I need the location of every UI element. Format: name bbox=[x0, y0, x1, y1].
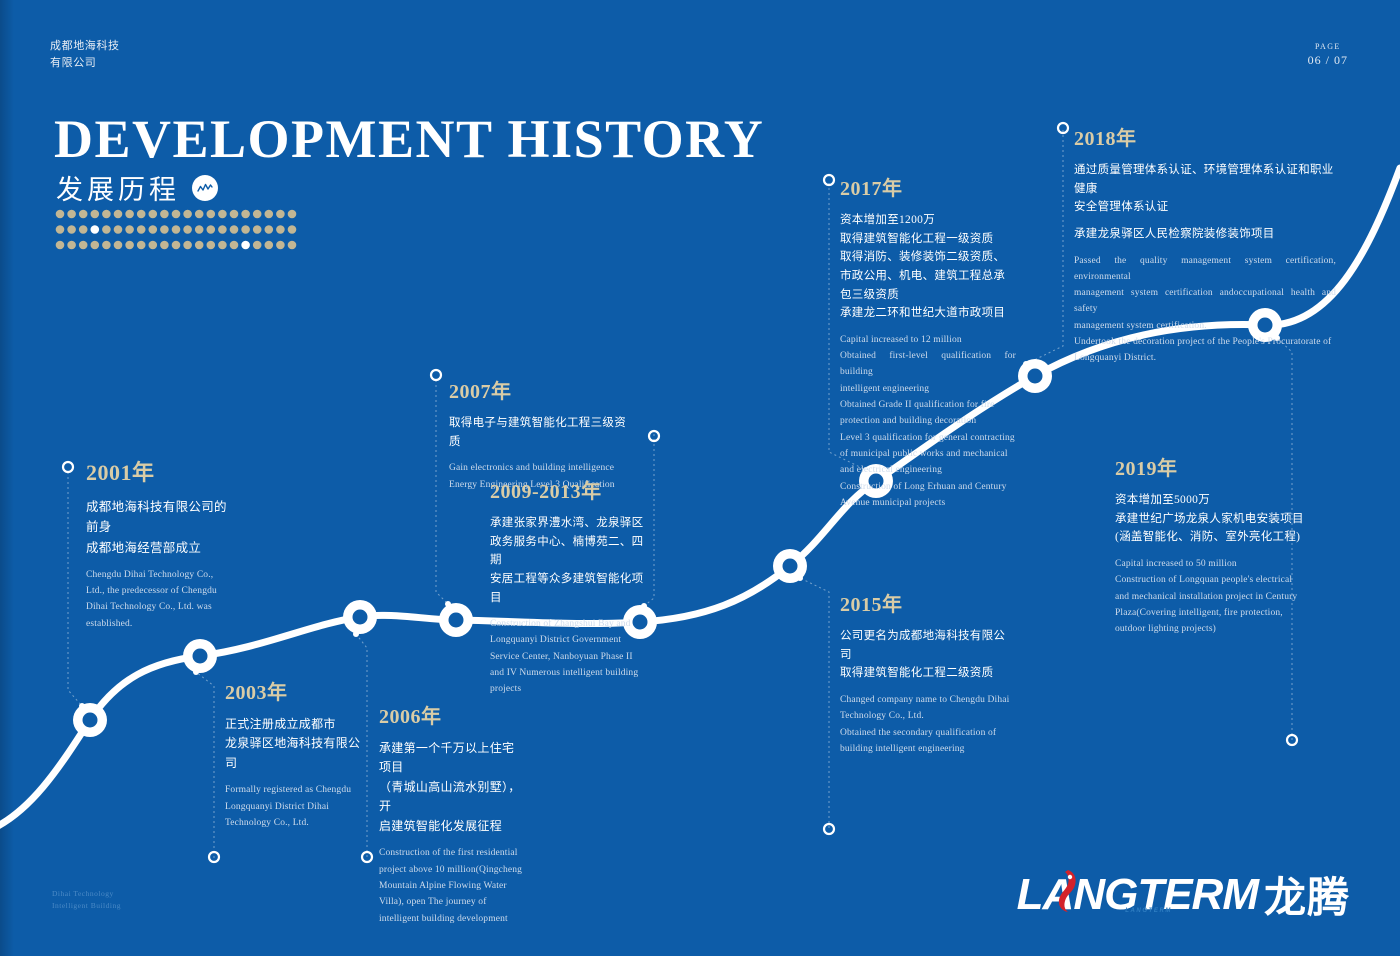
timeline-entry-2017[interactable]: 2017年 资本增加至1200万 取得建筑智能化工程一级资质 取得消防、装修装饰… bbox=[840, 172, 1016, 511]
development-history-page: 成都地海科技 有限公司 PAGE 06 / 07 DEVELOPMENT HIS… bbox=[0, 0, 1400, 956]
brand-logo-tiny: LANGTERM bbox=[1125, 908, 1172, 914]
brand-logo-cn: 龙腾 bbox=[1264, 864, 1350, 925]
brand-logo: LANGTERM LANGTERM 龙腾 bbox=[1017, 864, 1350, 925]
page-subtitle: 发展历程 bbox=[56, 168, 180, 207]
page-subtitle-row: 发展历程 bbox=[56, 168, 218, 207]
dragon-icon bbox=[1053, 868, 1081, 914]
entry-year: 2017年 bbox=[840, 172, 1016, 201]
brand-logo-word: LANGTERM LANGTERM bbox=[1017, 870, 1258, 920]
entry-cn-text: 承建第一个千万以上住宅项目 （青城山高山流水别墅），开 启建筑智能化发展征程 bbox=[379, 739, 525, 836]
footer-mark-line1: Dihai Technology bbox=[52, 888, 121, 900]
entry-en-text: Formally registered as Chengdu Longquany… bbox=[225, 782, 367, 831]
page-title: DEVELOPMENT HISTORY bbox=[54, 108, 764, 170]
entry-year: 2018年 bbox=[1074, 122, 1336, 151]
timeline-entry-2019[interactable]: 2019年 资本增加至5000万 承建世纪广场龙泉人家机电安装项目 (涵盖智能化… bbox=[1115, 452, 1305, 638]
chart-line-icon bbox=[192, 175, 218, 201]
company-name-line2: 有限公司 bbox=[50, 55, 120, 72]
entry-cn-text: 正式注册成立成都市 龙泉驿区地海科技有限公司 bbox=[225, 715, 367, 773]
entry-year: 2015年 bbox=[840, 588, 1016, 617]
entry-cn-text: 资本增加至5000万 承建世纪广场龙泉人家机电安装项目 (涵盖智能化、消防、室外… bbox=[1115, 491, 1305, 547]
timeline-entry-2009-2013[interactable]: 2009-2013年 承建张家界澧水湾、龙泉驿区 政务服务中心、楠博苑二、四期 … bbox=[490, 475, 650, 698]
footer-mark: Dihai Technology Intelligent Building bbox=[52, 888, 121, 912]
entry-en-text: Changed company name to Chengdu Dihai Te… bbox=[840, 692, 1016, 757]
entry-year: 2006年 bbox=[379, 700, 525, 729]
footer-mark-line2: Intelligent Building bbox=[52, 900, 121, 912]
page-number-value: 06 / 07 bbox=[1308, 53, 1348, 68]
entry-cn-text: 资本增加至1200万 取得建筑智能化工程一级资质 取得消防、装修装饰二级资质、 … bbox=[840, 211, 1016, 323]
entry-cn-text: 成都地海科技有限公司的前身 成都地海经营部成立 bbox=[86, 497, 236, 558]
entry-en-text: Construction of the first residential pr… bbox=[379, 845, 525, 927]
entry-year: 2003年 bbox=[225, 676, 367, 705]
company-name-line1: 成都地海科技 bbox=[50, 38, 120, 55]
entry-cn-text: 承建张家界澧水湾、龙泉驿区 政务服务中心、楠博苑二、四期 安居工程等众多建筑智能… bbox=[490, 514, 650, 607]
entry-cn-text: 取得电子与建筑智能化工程三级资质 bbox=[449, 414, 629, 451]
page-number-label: PAGE bbox=[1308, 42, 1348, 51]
decorative-dot-grid bbox=[55, 208, 301, 254]
entry-year: 2009-2013年 bbox=[490, 475, 650, 504]
page-number: PAGE 06 / 07 bbox=[1308, 42, 1348, 68]
entry-year: 2001年 bbox=[86, 455, 236, 487]
timeline-entry-2003[interactable]: 2003年 正式注册成立成都市 龙泉驿区地海科技有限公司 Formally re… bbox=[225, 676, 367, 831]
entry-en-text: Chengdu Dihai Technology Co., Ltd., the … bbox=[86, 567, 236, 632]
entry-cn-text: 公司更名为成都地海科技有限公司 取得建筑智能化工程二级资质 bbox=[840, 627, 1016, 683]
timeline-entry-2015[interactable]: 2015年 公司更名为成都地海科技有限公司 取得建筑智能化工程二级资质 Chan… bbox=[840, 588, 1016, 757]
entry-en-text: Passed the quality management system cer… bbox=[1074, 253, 1336, 367]
entry-year: 2019年 bbox=[1115, 452, 1305, 481]
entry-cn-text: 通过质量管理体系认证、环境管理体系认证和职业健康 安全管理体系认证 承建龙泉驿区… bbox=[1074, 161, 1336, 244]
entry-en-text: Construction of Zhangshui Bay and Longqu… bbox=[490, 616, 650, 698]
entry-en-text: Capital increased to 50 million Construc… bbox=[1115, 556, 1305, 638]
entry-year: 2007年 bbox=[449, 375, 629, 404]
timeline-entry-2018[interactable]: 2018年 通过质量管理体系认证、环境管理体系认证和职业健康 安全管理体系认证 … bbox=[1074, 122, 1336, 367]
timeline-entry-2001[interactable]: 2001年 成都地海科技有限公司的前身 成都地海经营部成立 Chengdu Di… bbox=[86, 455, 236, 632]
timeline-entry-2006[interactable]: 2006年 承建第一个千万以上住宅项目 （青城山高山流水别墅），开 启建筑智能化… bbox=[379, 700, 525, 927]
company-name: 成都地海科技 有限公司 bbox=[50, 38, 120, 72]
entry-en-text: Capital increased to 12 million Obtained… bbox=[840, 332, 1016, 512]
